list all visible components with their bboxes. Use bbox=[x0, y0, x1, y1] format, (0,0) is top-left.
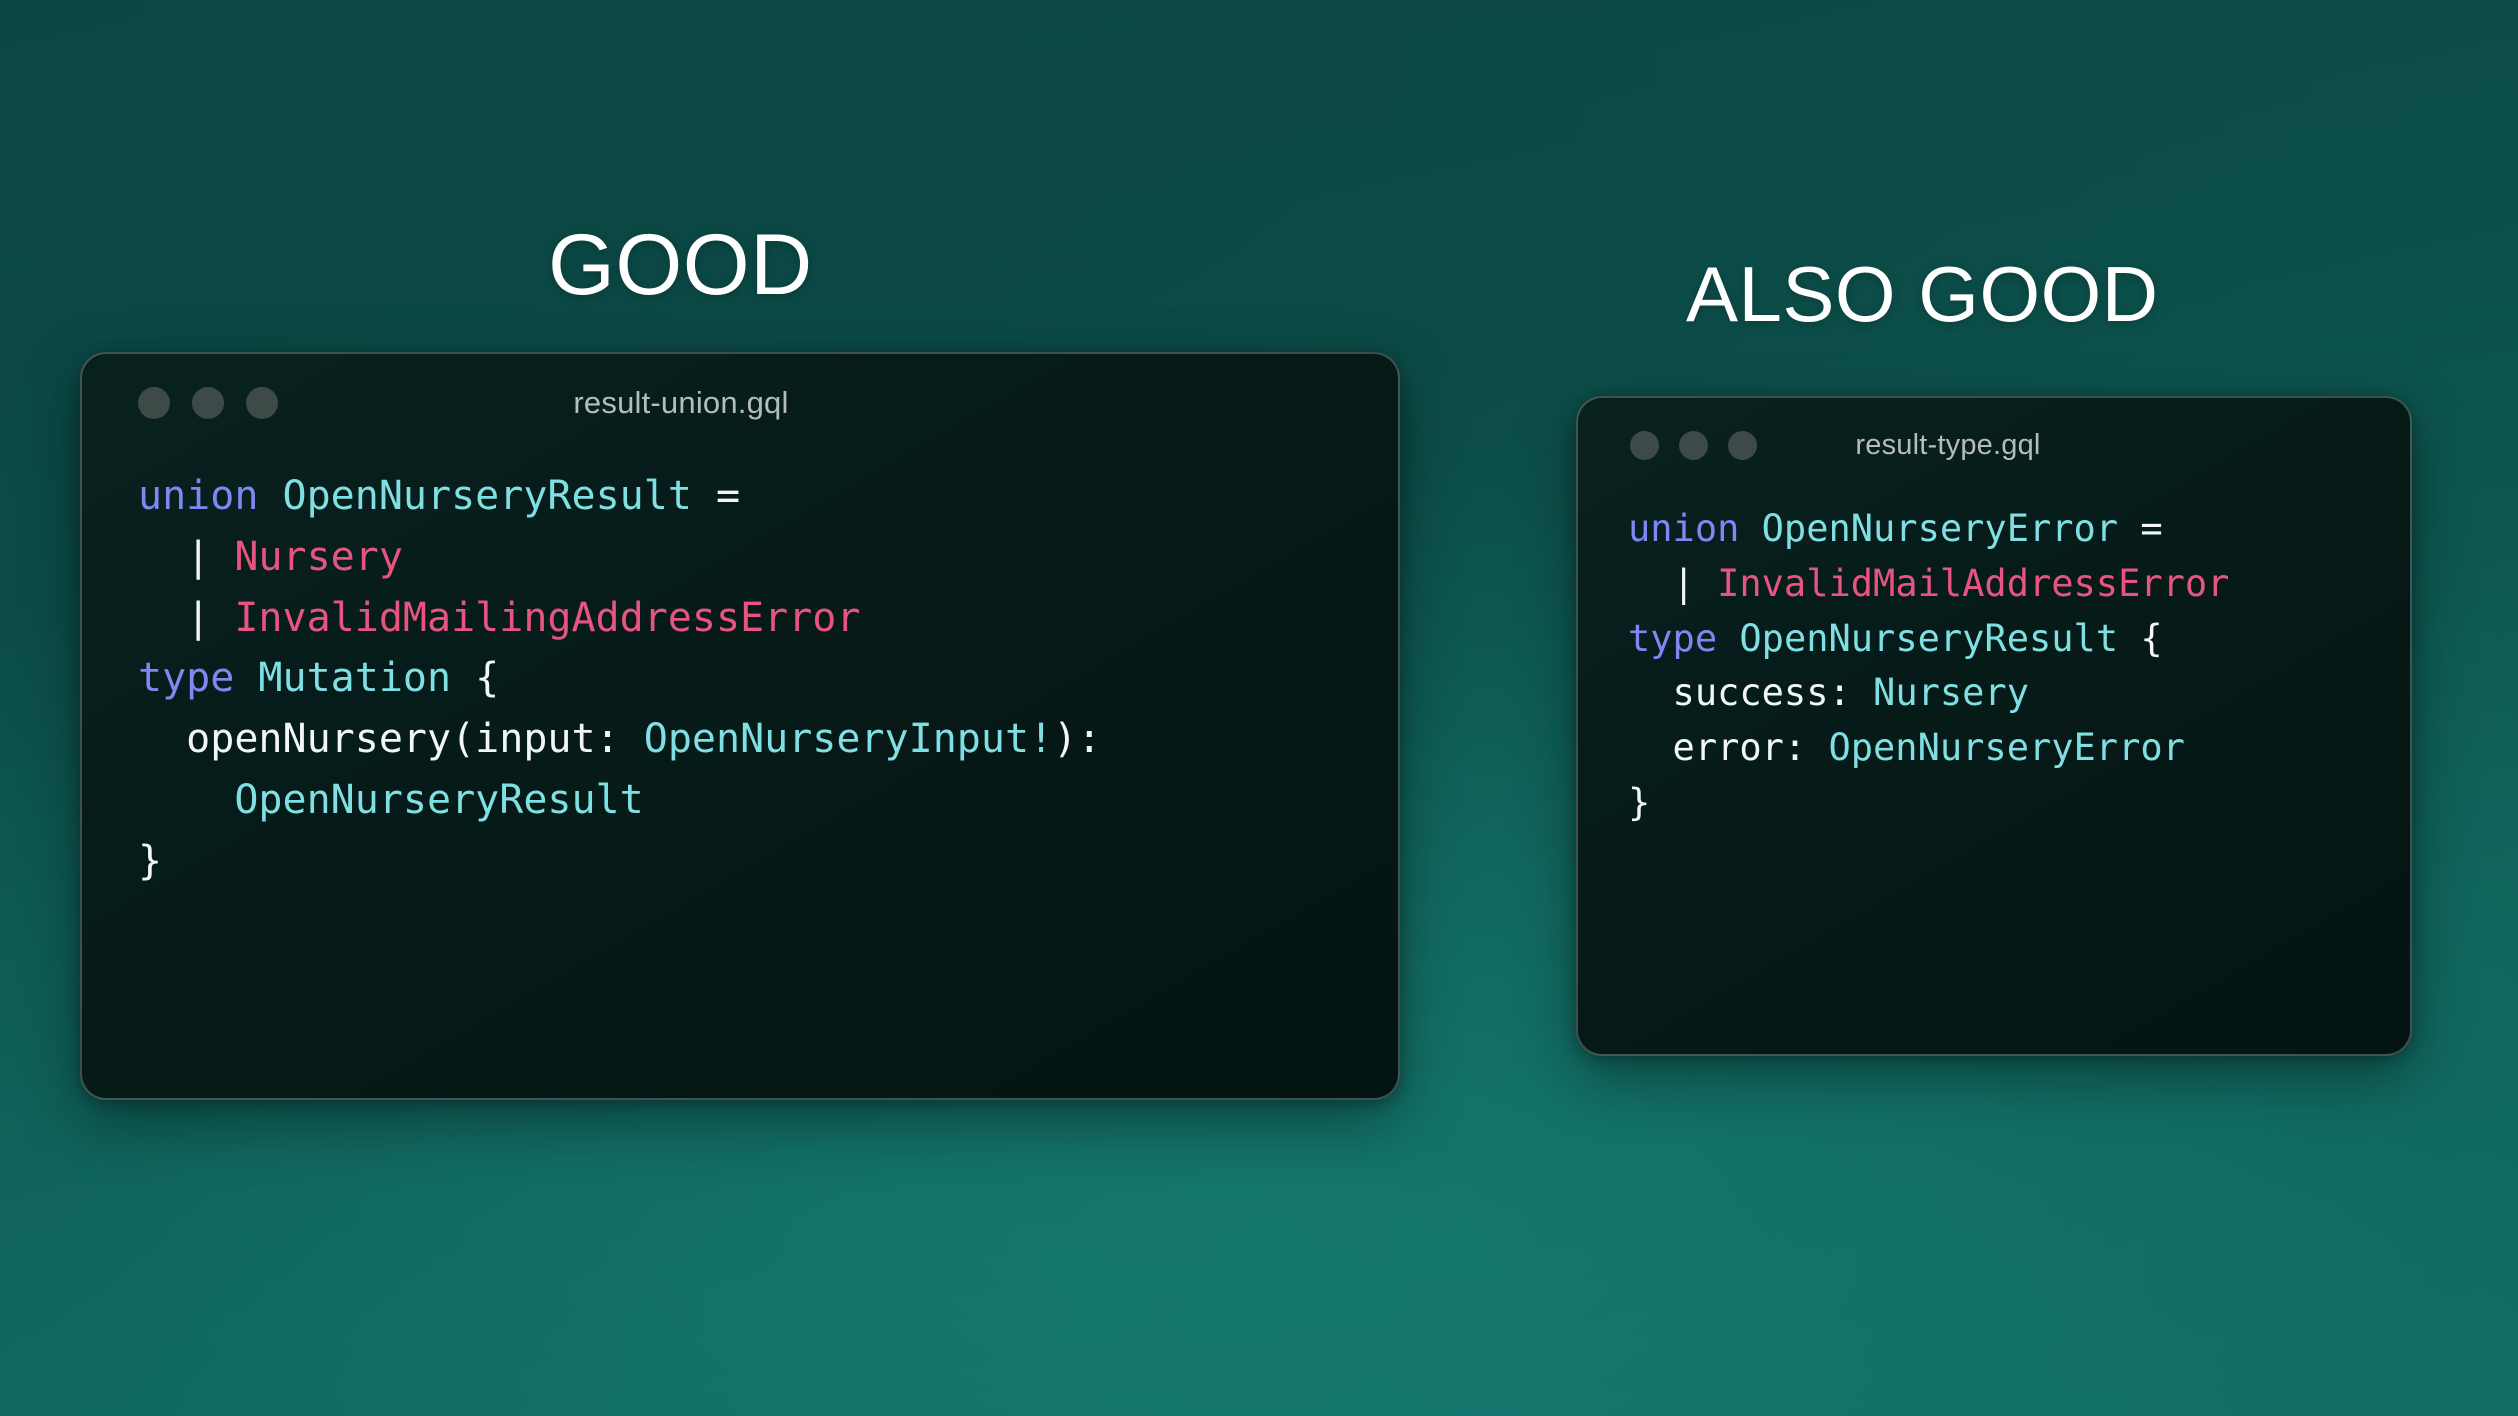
code-token-punct: } bbox=[138, 838, 162, 884]
code-token-plain: openNursery(input: bbox=[138, 716, 644, 762]
close-dot-icon[interactable] bbox=[1630, 431, 1659, 460]
panel-heading-also-good: ALSO GOOD bbox=[1686, 255, 2159, 333]
title-bar-also-good: result-type.gql bbox=[1578, 398, 2410, 492]
code-token-type: Nursery bbox=[1873, 671, 2029, 714]
code-token-punct: { bbox=[451, 655, 499, 701]
code-token-punct: { bbox=[2118, 617, 2163, 660]
window-filename-good: result-union.gql bbox=[82, 385, 1398, 421]
code-line: | InvalidMailingAddressError bbox=[138, 588, 1352, 649]
minimize-dot-icon[interactable] bbox=[192, 387, 224, 419]
code-token-pipe: | bbox=[1628, 562, 1717, 605]
code-token-punct: = bbox=[2118, 507, 2163, 550]
code-line: OpenNurseryResult bbox=[138, 770, 1352, 831]
code-token-type: OpenNurseryResult bbox=[283, 473, 692, 519]
code-token-punct: } bbox=[1628, 781, 1650, 824]
code-line: } bbox=[138, 831, 1352, 892]
code-token-keyword: type bbox=[1628, 617, 1739, 660]
code-token-type: OpenNurseryResult bbox=[1739, 617, 2118, 660]
code-token-punct: = bbox=[692, 473, 740, 519]
code-line: } bbox=[1628, 776, 2374, 831]
code-token-keyword: union bbox=[1628, 507, 1762, 550]
code-block-also-good: union OpenNurseryError = | InvalidMailAd… bbox=[1578, 492, 2410, 831]
code-token-type: Mutation bbox=[258, 655, 451, 701]
code-token-keyword: union bbox=[138, 473, 283, 519]
close-dot-icon[interactable] bbox=[138, 387, 170, 419]
code-token-type: OpenNurseryError bbox=[1828, 726, 2184, 769]
code-line: type OpenNurseryResult { bbox=[1628, 612, 2374, 667]
code-line: union OpenNurseryResult = bbox=[138, 466, 1352, 527]
code-token-keyword: type bbox=[138, 655, 258, 701]
code-token-plain: error: bbox=[1628, 726, 1828, 769]
code-token-type: OpenNurseryInput! bbox=[644, 716, 1053, 762]
code-token-plain: success: bbox=[1628, 671, 1873, 714]
code-token-type: OpenNurseryResult bbox=[234, 777, 643, 823]
code-token-type: OpenNurseryError bbox=[1762, 507, 2118, 550]
maximize-dot-icon[interactable] bbox=[1728, 431, 1757, 460]
code-token-pipe: | bbox=[138, 595, 234, 641]
code-line: | Nursery bbox=[138, 527, 1352, 588]
code-line: | InvalidMailAddressError bbox=[1628, 557, 2374, 612]
code-token-pipe: | bbox=[138, 534, 234, 580]
code-window-also-good: result-type.gql union OpenNurseryError =… bbox=[1576, 396, 2412, 1056]
panel-heading-good: GOOD bbox=[548, 222, 813, 308]
comparison-stage: GOOD result-union.gql union OpenNurseryR… bbox=[0, 0, 2518, 1416]
code-token-member: InvalidMailAddressError bbox=[1717, 562, 2229, 605]
code-token-member: InvalidMailingAddressError bbox=[234, 595, 860, 641]
code-token-plain: ): bbox=[1053, 716, 1101, 762]
code-token-member: Nursery bbox=[234, 534, 403, 580]
maximize-dot-icon[interactable] bbox=[246, 387, 278, 419]
traffic-lights-good bbox=[138, 387, 278, 419]
code-block-good: union OpenNurseryResult = | Nursery | In… bbox=[82, 452, 1398, 892]
code-token-plain bbox=[138, 777, 234, 823]
title-bar-good: result-union.gql bbox=[82, 354, 1398, 452]
code-line: union OpenNurseryError = bbox=[1628, 502, 2374, 557]
code-line: error: OpenNurseryError bbox=[1628, 721, 2374, 776]
code-window-good: result-union.gql union OpenNurseryResult… bbox=[80, 352, 1400, 1100]
code-line: type Mutation { bbox=[138, 648, 1352, 709]
traffic-lights-also-good bbox=[1630, 431, 1757, 460]
code-line: openNursery(input: OpenNurseryInput!): bbox=[138, 709, 1352, 770]
code-line: success: Nursery bbox=[1628, 666, 2374, 721]
minimize-dot-icon[interactable] bbox=[1679, 431, 1708, 460]
